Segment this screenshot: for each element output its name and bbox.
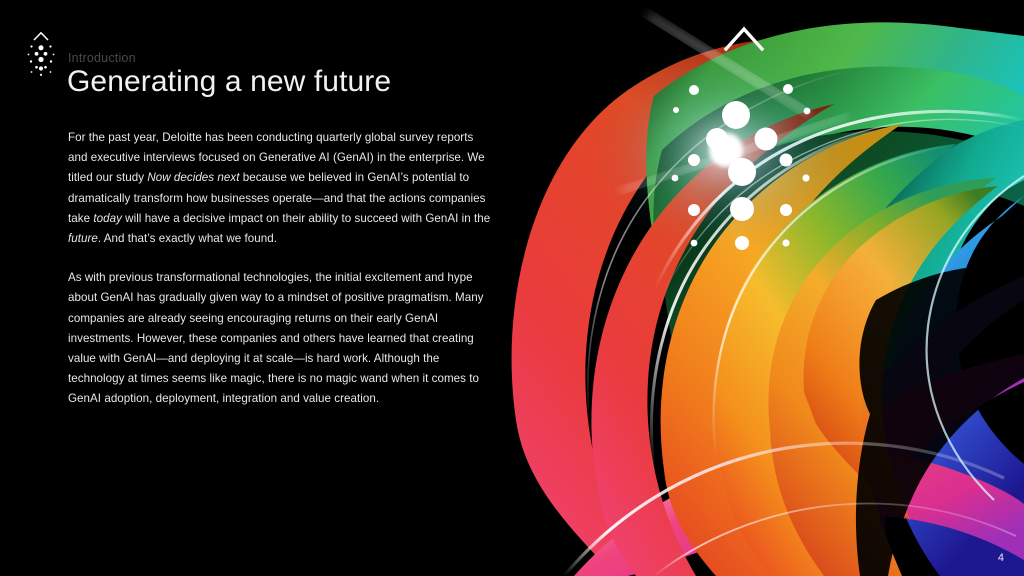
brand-logo (17, 27, 65, 79)
content-column: Introduction Generating a new future For… (0, 0, 540, 576)
paragraph-1: For the past year, Deloitte has been con… (68, 128, 493, 249)
body-copy: For the past year, Deloitte has been con… (68, 128, 493, 410)
emphasis-text: future (68, 232, 98, 245)
body-text: will have a decisive impact on their abi… (122, 212, 490, 225)
paragraph-2: As with previous transformational techno… (68, 268, 493, 409)
body-text: As with previous transformational techno… (68, 271, 484, 405)
deloitte-dot-mark-icon (17, 27, 65, 79)
slide-root: Introduction Generating a new future For… (0, 0, 1024, 576)
emphasis-text: today (93, 212, 122, 225)
body-text: . And that’s exactly what we found. (98, 232, 277, 245)
page-title: Generating a new future (67, 63, 391, 101)
emphasis-text: Now decides next (147, 171, 239, 184)
decorative-artwork (504, 0, 1024, 576)
page-number: 4 (998, 552, 1004, 564)
